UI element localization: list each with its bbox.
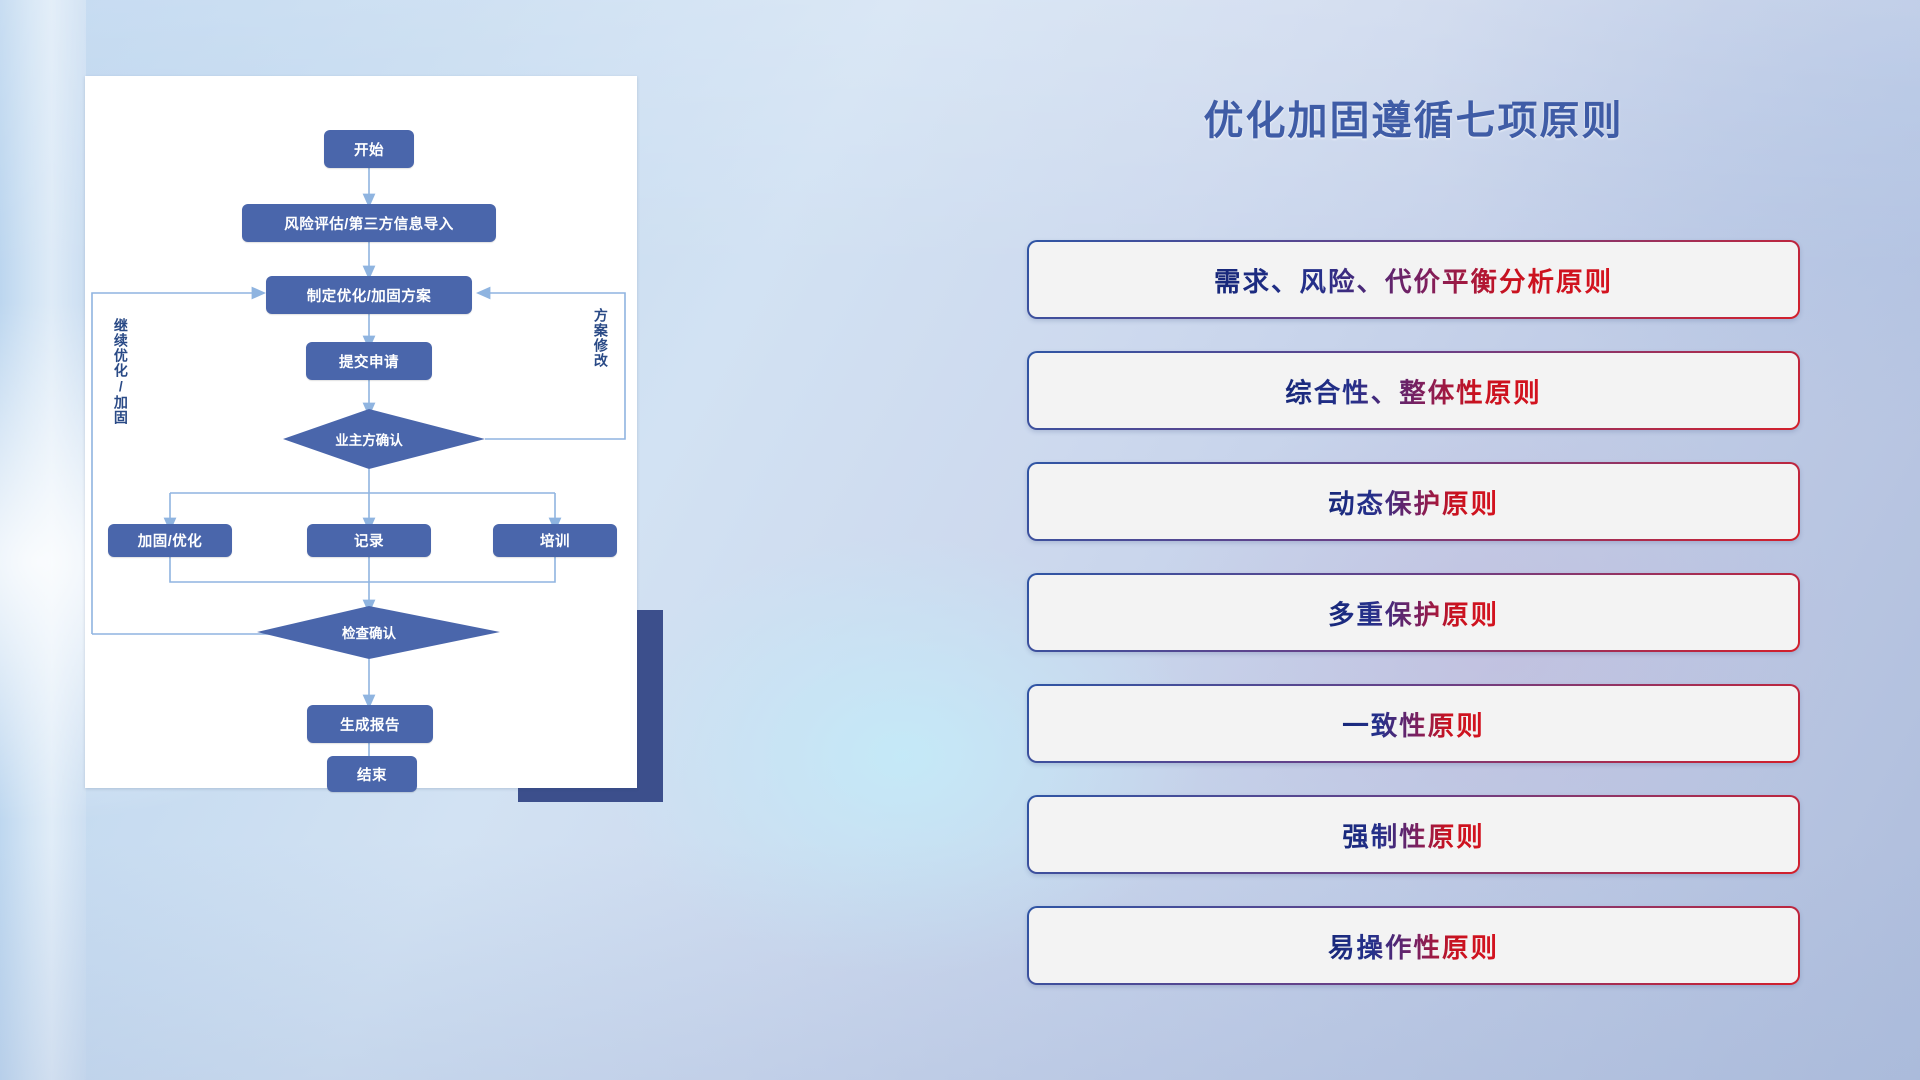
principle-card-4-label: 多重保护原则	[1328, 593, 1499, 632]
principle-card-7-inner: 易操作性原则	[1029, 908, 1798, 983]
principle-card-3-inner: 动态保护原则	[1029, 464, 1798, 539]
principle-card-5-inner: 一致性原则	[1029, 686, 1798, 761]
flow-node-reinforce[interactable]: 加固/优化	[108, 524, 232, 557]
flow-node-end-label: 结束	[357, 764, 387, 785]
principle-card-3[interactable]: 动态保护原则	[1027, 462, 1800, 541]
flow-node-check-confirm[interactable]: 检查确认	[319, 621, 419, 643]
flow-node-check-confirm-label: 检查确认	[342, 622, 396, 642]
principle-card-1-inner: 需求、风险、代价平衡分析原则	[1029, 242, 1798, 317]
principle-card-2-inner: 综合性、整体性原则	[1029, 353, 1798, 428]
flow-node-training[interactable]: 培训	[493, 524, 617, 557]
flow-node-training-label: 培训	[540, 530, 570, 551]
flow-node-owner-confirm[interactable]: 业主方确认	[319, 428, 419, 450]
flow-node-owner-confirm-label: 业主方确认	[335, 429, 403, 449]
flow-node-report[interactable]: 生成报告	[307, 705, 433, 743]
principle-card-2[interactable]: 综合性、整体性原则	[1027, 351, 1800, 430]
flow-node-start[interactable]: 开始	[324, 130, 414, 168]
flow-edge-label-right: 方案修改	[593, 308, 608, 406]
flow-node-submit[interactable]: 提交申请	[306, 342, 432, 380]
principle-card-7-label: 易操作性原则	[1328, 926, 1499, 965]
flow-node-risk-assessment[interactable]: 风险评估/第三方信息导入	[242, 204, 496, 242]
flow-node-report-label: 生成报告	[340, 714, 400, 735]
principle-card-1[interactable]: 需求、风险、代价平衡分析原则	[1027, 240, 1800, 319]
flow-node-plan-label: 制定优化/加固方案	[307, 285, 432, 306]
principle-card-5[interactable]: 一致性原则	[1027, 684, 1800, 763]
principle-card-4-inner: 多重保护原则	[1029, 575, 1798, 650]
flow-node-end[interactable]: 结束	[327, 756, 417, 792]
principle-card-5-label: 一致性原则	[1342, 704, 1485, 743]
principle-card-6[interactable]: 强制性原则	[1027, 795, 1800, 874]
flow-node-submit-label: 提交申请	[339, 351, 399, 372]
principle-card-2-label: 综合性、整体性原则	[1285, 371, 1542, 410]
principle-card-3-label: 动态保护原则	[1328, 482, 1499, 521]
principle-card-1-label: 需求、风险、代价平衡分析原则	[1214, 260, 1613, 299]
page-title: 优化加固遵循七项原则	[1027, 88, 1800, 146]
principle-card-6-label: 强制性原则	[1342, 815, 1485, 854]
principles-list: 需求、风险、代价平衡分析原则 综合性、整体性原则 动态保护原则 多重保护原则 一…	[1027, 240, 1800, 1017]
flowchart-panel: 开始 风险评估/第三方信息导入 制定优化/加固方案 提交申请 业主方确认 加固/…	[85, 76, 637, 788]
flow-node-plan[interactable]: 制定优化/加固方案	[266, 276, 472, 314]
flow-node-reinforce-label: 加固/优化	[138, 530, 203, 551]
flow-node-risk-assessment-label: 风险评估/第三方信息导入	[284, 213, 454, 234]
flow-node-start-label: 开始	[354, 139, 384, 160]
flow-node-record[interactable]: 记录	[307, 524, 431, 557]
principle-card-4[interactable]: 多重保护原则	[1027, 573, 1800, 652]
principle-card-7[interactable]: 易操作性原则	[1027, 906, 1800, 985]
flow-node-record-label: 记录	[354, 530, 384, 551]
flow-edge-label-left: 继续优化/加固	[113, 318, 128, 454]
principle-card-6-inner: 强制性原则	[1029, 797, 1798, 872]
